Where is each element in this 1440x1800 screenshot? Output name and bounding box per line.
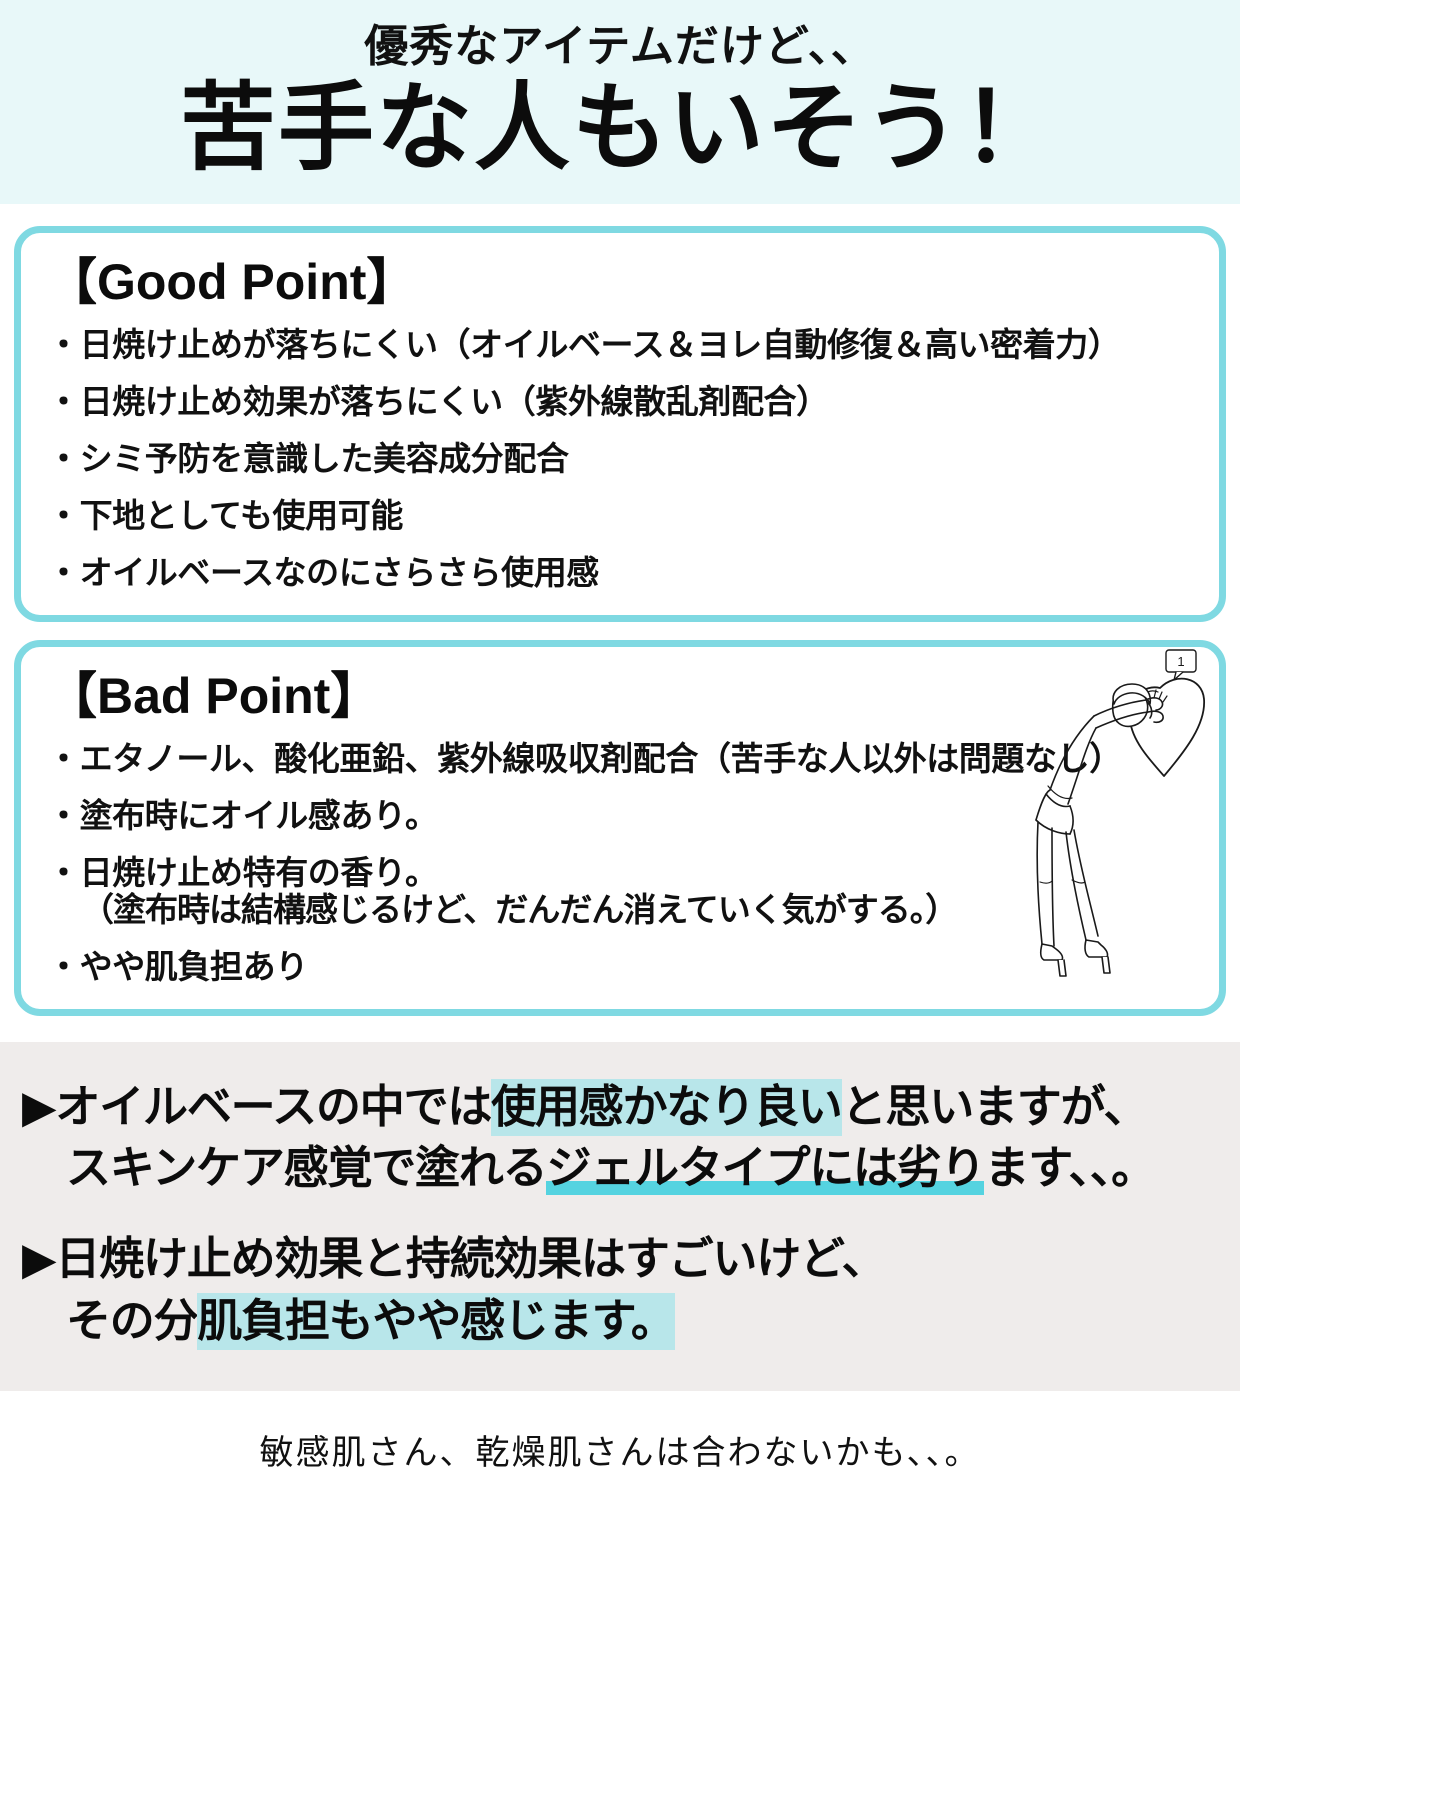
list-item: ・日焼け止めが落ちにくい（オイルベース＆ヨレ自動修復＆高い密着力） xyxy=(47,328,1193,361)
list-item: ・シミ予防を意識した美容成分配合 xyxy=(47,442,1193,475)
summary-text-pre: オイルベースの中では xyxy=(55,1081,491,1132)
header-band: 優秀なアイテムだけど、、 苦手な人もいそう！ xyxy=(0,0,1240,204)
summary-text-pre: その分 xyxy=(66,1295,197,1346)
summary-paragraph-2: ▶日焼け止め効果と持続効果はすごいけど、 その分肌負担もやや感じます。 xyxy=(22,1228,1218,1350)
list-item: ・オイルベースなのにさらさら使用感 xyxy=(47,556,1193,589)
summary-line: ▶日焼け止め効果と持続効果はすごいけど、 xyxy=(22,1228,1218,1289)
cards-container: 【Good Point】 ・日焼け止めが落ちにくい（オイルベース＆ヨレ自動修復＆… xyxy=(0,204,1240,1042)
summary-text-post: ます、、。 xyxy=(984,1142,1154,1193)
summary-text-post: と思いますが、 xyxy=(842,1081,1148,1132)
footer-handwritten-note: 敏感肌さん、乾燥肌さんは合わないかも、、。 xyxy=(0,1391,1240,1500)
bad-point-title: 【Bad Point】 xyxy=(47,669,1193,724)
arrow-marker-icon: ▶ xyxy=(22,1233,55,1284)
good-point-bullet-list: ・日焼け止めが落ちにくい（オイルベース＆ヨレ自動修復＆高い密着力） ・日焼け止め… xyxy=(47,328,1193,589)
list-item: ・日焼け止め効果が落ちにくい（紫外線散乱剤配合） xyxy=(47,385,1193,418)
summary-line: ▶オイルベースの中では使用感かなり良いと思いますが、 xyxy=(22,1076,1218,1137)
list-item: ・エタノール、酸化亜鉛、紫外線吸収剤配合（苦手な人以外は問題なし） xyxy=(47,742,1193,775)
summary-highlight: 肌負担もやや感じます。 xyxy=(197,1293,674,1350)
good-point-title: 【Good Point】 xyxy=(47,255,1193,310)
summary-text-pre: スキンケア感覚で塗れる xyxy=(66,1142,546,1193)
summary-paragraph-1: ▶オイルベースの中では使用感かなり良いと思いますが、 スキンケア感覚で塗れるジェ… xyxy=(22,1076,1218,1198)
summary-underline: ジェルタイプには劣り xyxy=(546,1142,984,1195)
summary-text: 日焼け止め効果と持続効果はすごいけど、 xyxy=(55,1233,885,1284)
footer-note-text: 敏感肌さん、乾燥肌さんは合わないかも、、。 xyxy=(260,1433,981,1473)
infographic-page: 優秀なアイテムだけど、、 苦手な人もいそう！ 【Good Point】 ・日焼け… xyxy=(0,0,1240,1800)
list-item: ・日焼け止め特有の香り。 xyxy=(47,856,1193,889)
bad-point-bullet-list-cont: ・やや肌負担あり xyxy=(47,950,1193,983)
bad-point-bullet-list: ・エタノール、酸化亜鉛、紫外線吸収剤配合（苦手な人以外は問題なし） ・塗布時にオ… xyxy=(47,742,1193,889)
list-item: ・やや肌負担あり xyxy=(47,950,1193,983)
header-title: 苦手な人もいそう！ xyxy=(0,75,1240,183)
arrow-marker-icon: ▶ xyxy=(22,1081,55,1132)
bad-point-card: 【Bad Point】 ・エタノール、酸化亜鉛、紫外線吸収剤配合（苦手な人以外は… xyxy=(14,640,1226,1016)
good-point-card: 【Good Point】 ・日焼け止めが落ちにくい（オイルベース＆ヨレ自動修復＆… xyxy=(14,226,1226,622)
bad-point-subline: （塗布時は結構感じるけど、だんだん消えていく気がする。） xyxy=(81,893,1193,926)
header-subtitle: 優秀なアイテムだけど、、 xyxy=(0,22,1240,73)
list-item: ・下地としても使用可能 xyxy=(47,499,1193,532)
summary-line: スキンケア感覚で塗れるジェルタイプには劣ります、、。 xyxy=(22,1137,1218,1198)
summary-line: その分肌負担もやや感じます。 xyxy=(22,1290,1218,1351)
list-item: ・塗布時にオイル感あり。 xyxy=(47,799,1193,832)
summary-band: ▶オイルベースの中では使用感かなり良いと思いますが、 スキンケア感覚で塗れるジェ… xyxy=(0,1042,1240,1391)
summary-highlight: 使用感かなり良い xyxy=(491,1079,841,1136)
